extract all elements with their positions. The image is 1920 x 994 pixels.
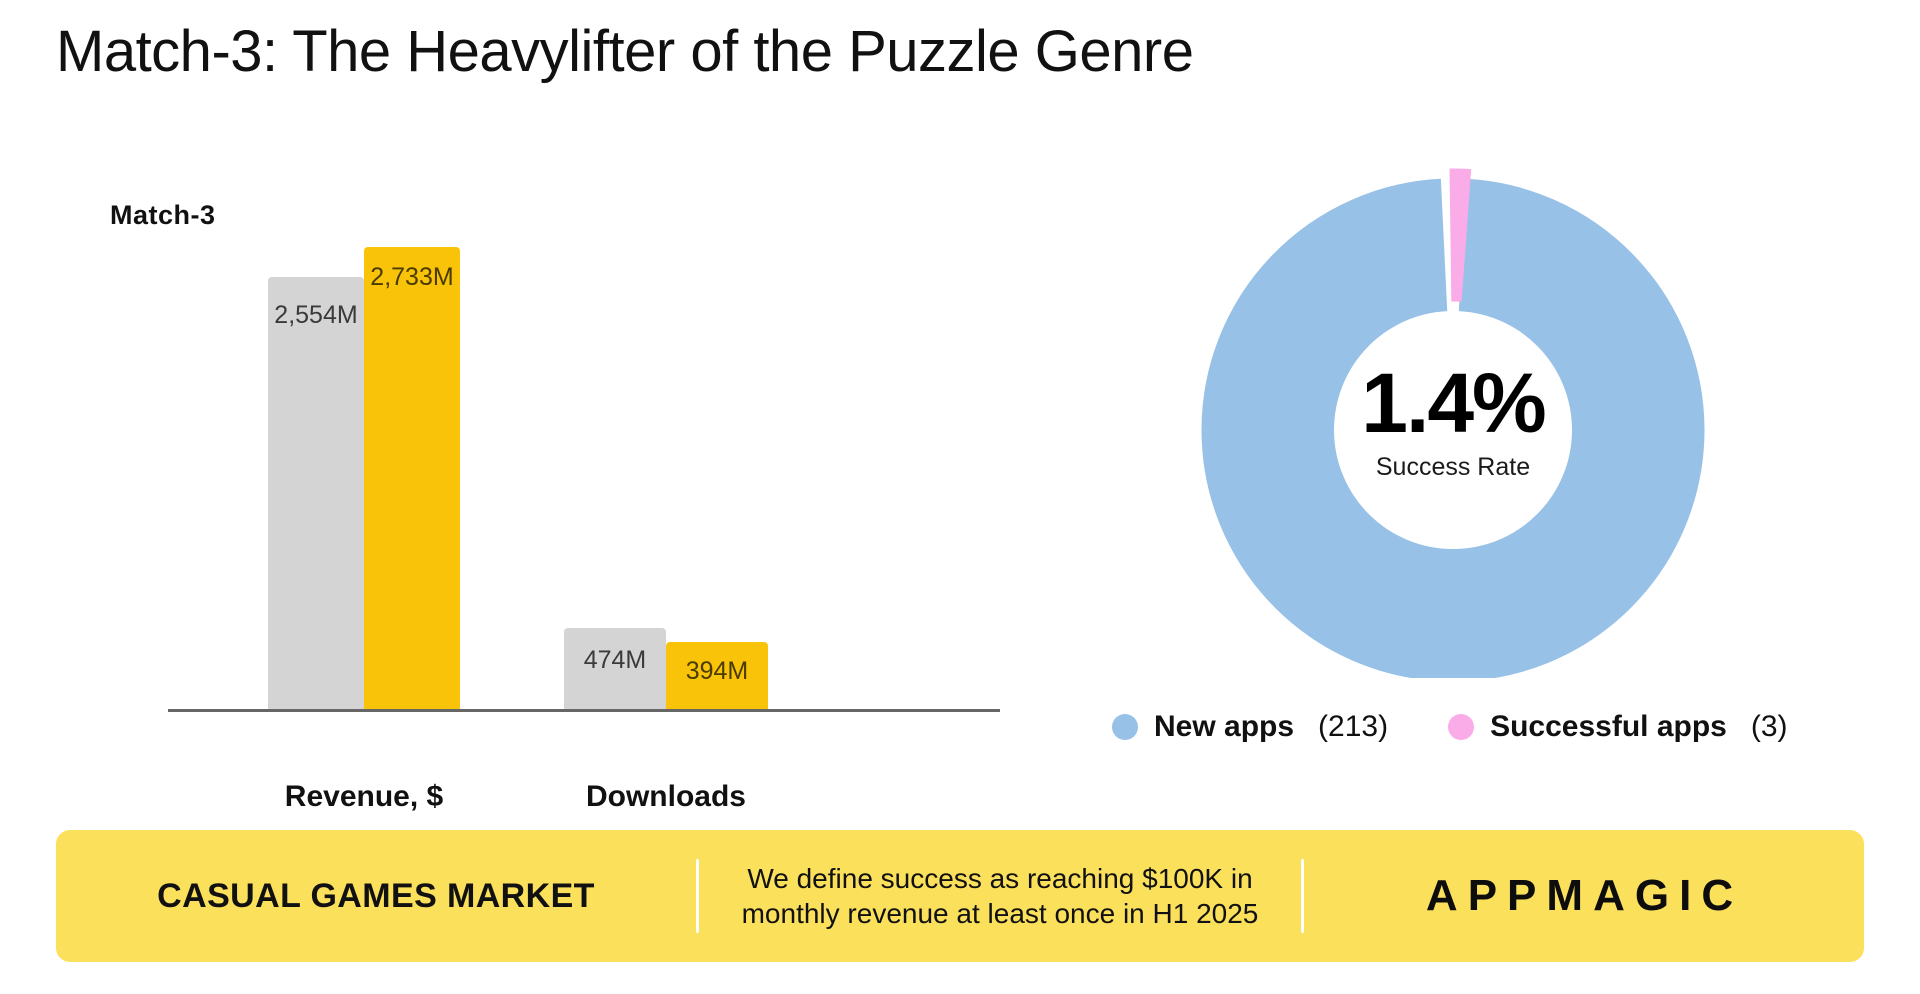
logo-letter-a1: A	[1426, 871, 1467, 921]
logo-letter-p2: P	[1507, 871, 1545, 921]
legend-dot-icon-new-apps	[1112, 714, 1138, 740]
donut-chart-legend: New apps (213) Successful apps (3)	[1112, 710, 1788, 744]
logo-letter-g: G	[1635, 871, 1678, 921]
logo-letter-i: I	[1679, 871, 1700, 921]
category-label-revenue: Revenue, $	[268, 780, 460, 814]
legend-label-successful-apps: Successful apps	[1490, 710, 1727, 744]
legend-item-successful-apps[interactable]: Successful apps (3)	[1448, 710, 1787, 744]
appmagic-logo: A P P M A G I C	[1304, 871, 1864, 921]
category-label-downloads: Downloads	[564, 780, 768, 814]
donut-chart-panel: 1.4% Success Rate New apps (213) Success…	[1060, 150, 1920, 850]
donut-chart: 1.4% Success Rate	[1198, 168, 1708, 678]
bar-value-revenue-h1-2025: 2,733M	[364, 263, 460, 292]
bar-plot-area: 2,554M 2,733M 474M 394M Revenue, $ Downl…	[168, 210, 1000, 712]
bar-value-downloads-h1-2024: 474M	[564, 646, 666, 675]
bar-chart-panel: Match-3 2,554M 2,733M 474M 394M Revenue,…	[0, 150, 1060, 850]
donut-svg	[1198, 168, 1708, 678]
bar-value-revenue-h1-2024: 2,554M	[268, 301, 364, 330]
bar-revenue-h1-2025[interactable]: 2,733M	[364, 247, 460, 709]
bar-downloads-h1-2025[interactable]: 394M	[666, 642, 768, 709]
logo-letter-c: C	[1701, 871, 1742, 921]
donut-hole	[1334, 311, 1572, 549]
logo-letter-p1: P	[1468, 871, 1506, 921]
legend-dot-icon-successful-apps	[1448, 714, 1474, 740]
bar-value-downloads-h1-2025: 394M	[666, 657, 768, 686]
page-title: Match-3: The Heavylifter of the Puzzle G…	[56, 18, 1193, 85]
bar-revenue-h1-2024[interactable]: 2,554M	[268, 277, 364, 709]
logo-letter-a2: A	[1593, 871, 1634, 921]
footer-brand-text: CASUAL GAMES MARKET	[56, 877, 696, 916]
legend-item-new-apps[interactable]: New apps (213)	[1112, 710, 1388, 744]
legend-count-successful-apps: (3)	[1751, 710, 1788, 744]
legend-count-new-apps: (213)	[1318, 710, 1388, 744]
logo-letter-m: M	[1546, 871, 1592, 921]
footer-bar: CASUAL GAMES MARKET We define success as…	[56, 830, 1864, 962]
footer-note-text: We define success as reaching $100K in m…	[699, 861, 1301, 932]
legend-label-new-apps: New apps	[1154, 710, 1294, 744]
x-axis-line	[168, 709, 1000, 712]
bar-downloads-h1-2024[interactable]: 474M	[564, 628, 666, 709]
